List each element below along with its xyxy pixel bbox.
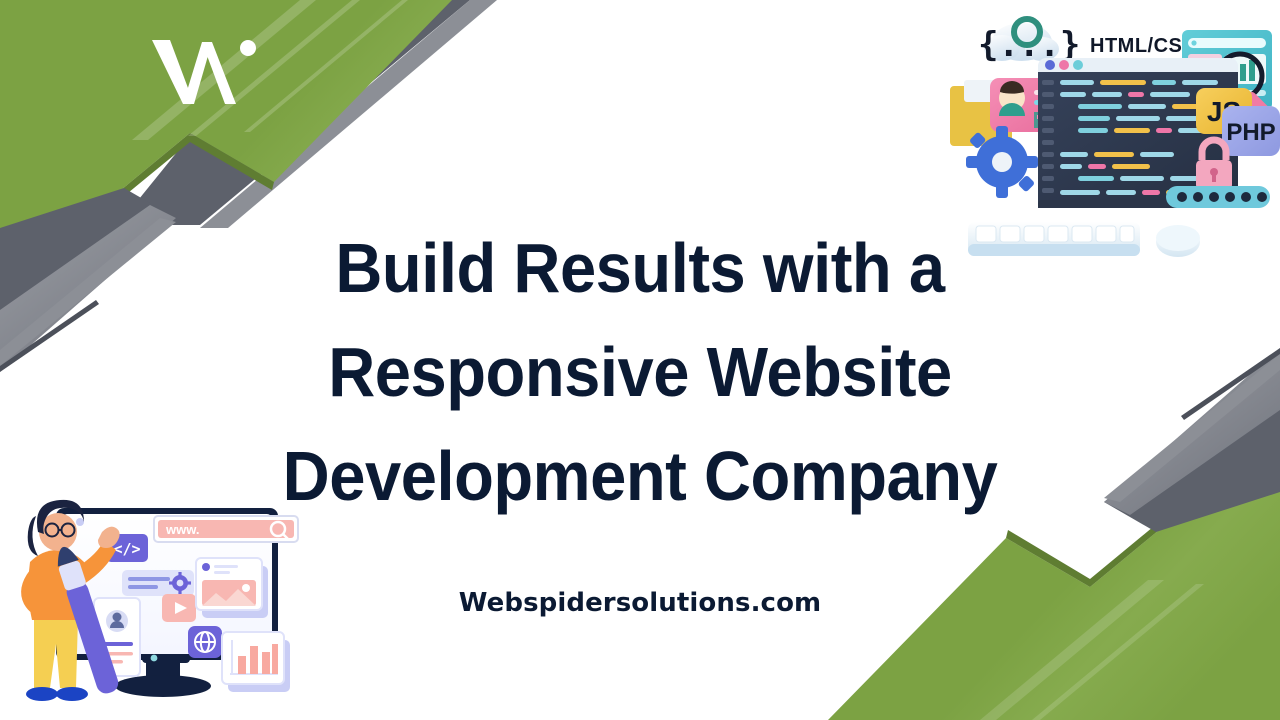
image-card [196,558,268,618]
headline-line-3: Development Company [222,424,1059,528]
keyboard [968,222,1140,256]
logo-w-glyph [152,40,236,104]
svg-text:PHP: PHP [1226,119,1275,146]
headline-line-1: Build Results with a [222,216,1059,320]
bar-chart-card [222,632,290,692]
svg-text:</>: </> [113,540,140,558]
server-dots-bar [1166,186,1270,208]
logo-dot [240,40,256,56]
web-designer-illustration: www. </> [6,488,336,720]
settings-card [122,570,194,596]
search-bar: www. [154,516,298,542]
play-button [162,594,196,622]
headline-line-2: Responsive Website [222,320,1059,424]
html-css-label: HTML/CSS [1090,35,1196,57]
globe-icon [188,626,222,658]
gear-icon [966,126,1038,198]
url-text: www. [165,522,199,537]
php-badge: PHP [1222,106,1280,156]
promo-banner: Build Results with a Responsive Website … [0,0,1280,720]
web-development-illustration: {...} HTML/CSS [950,4,1280,280]
webspider-logo[interactable] [150,32,262,112]
mouse [1156,225,1200,257]
